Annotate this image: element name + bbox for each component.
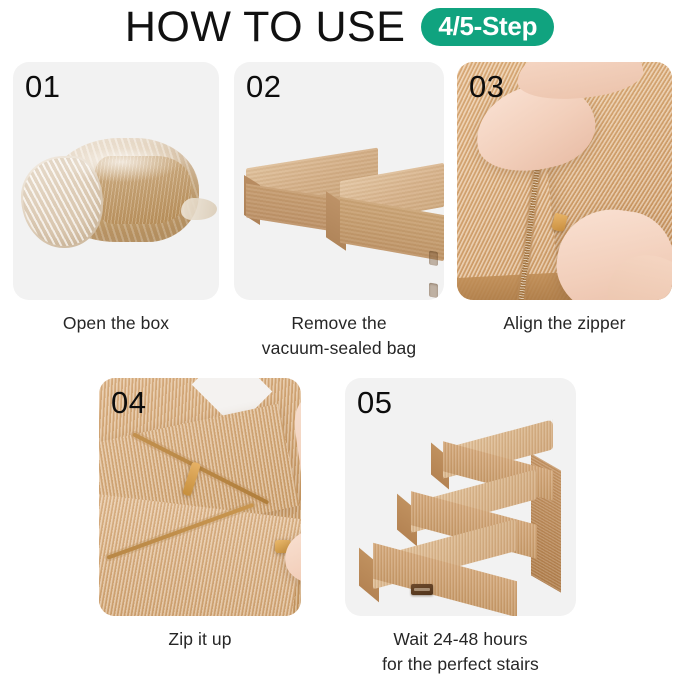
step-card-03-media: 03 <box>457 62 672 300</box>
step-caption-02: Remove the vacuum-sealed bag <box>234 311 444 362</box>
step-number-02: 02 <box>246 70 281 104</box>
step-card-02[interactable]: 02 Remove the vacuum-sealed bag <box>234 62 444 362</box>
step-card-05[interactable]: 05 Wait 24-48 hours for the perfect stai… <box>345 378 576 678</box>
step-card-03[interactable]: 03 Align the zipper <box>457 62 672 336</box>
brand-label-tag <box>411 584 433 595</box>
step-card-01[interactable]: 01 Open the box <box>13 62 219 336</box>
step-number-03: 03 <box>469 70 504 104</box>
step-count-badge: 4/5-Step <box>421 8 554 46</box>
step-card-04-media: 04 <box>99 378 301 616</box>
box-handle-icon <box>429 283 438 299</box>
step-caption-01: Open the box <box>13 311 219 336</box>
step-card-01-media: 01 <box>13 62 219 300</box>
box-handle-icon <box>429 251 438 267</box>
step-caption-04: Zip it up <box>99 627 301 652</box>
step-caption-03: Align the zipper <box>457 311 672 336</box>
step-card-04[interactable]: 04 Zip it up <box>99 378 301 652</box>
step-card-02-media: 02 <box>234 62 444 300</box>
step-card-05-media: 05 <box>345 378 576 616</box>
page-header: HOW TO USE 4/5-Step <box>0 0 679 54</box>
step-number-01: 01 <box>25 70 60 104</box>
step-caption-05: Wait 24-48 hours for the perfect stairs <box>345 627 576 678</box>
step-caption-05-line2: for the perfect stairs <box>345 652 576 677</box>
step-caption-02-line1: Remove the <box>234 311 444 336</box>
step-number-04: 04 <box>111 386 146 420</box>
step-caption-02-line2: vacuum-sealed bag <box>234 336 444 361</box>
step-caption-05-line1: Wait 24-48 hours <box>345 627 576 652</box>
page-title: HOW TO USE <box>125 6 406 49</box>
step-number-05: 05 <box>357 386 392 420</box>
